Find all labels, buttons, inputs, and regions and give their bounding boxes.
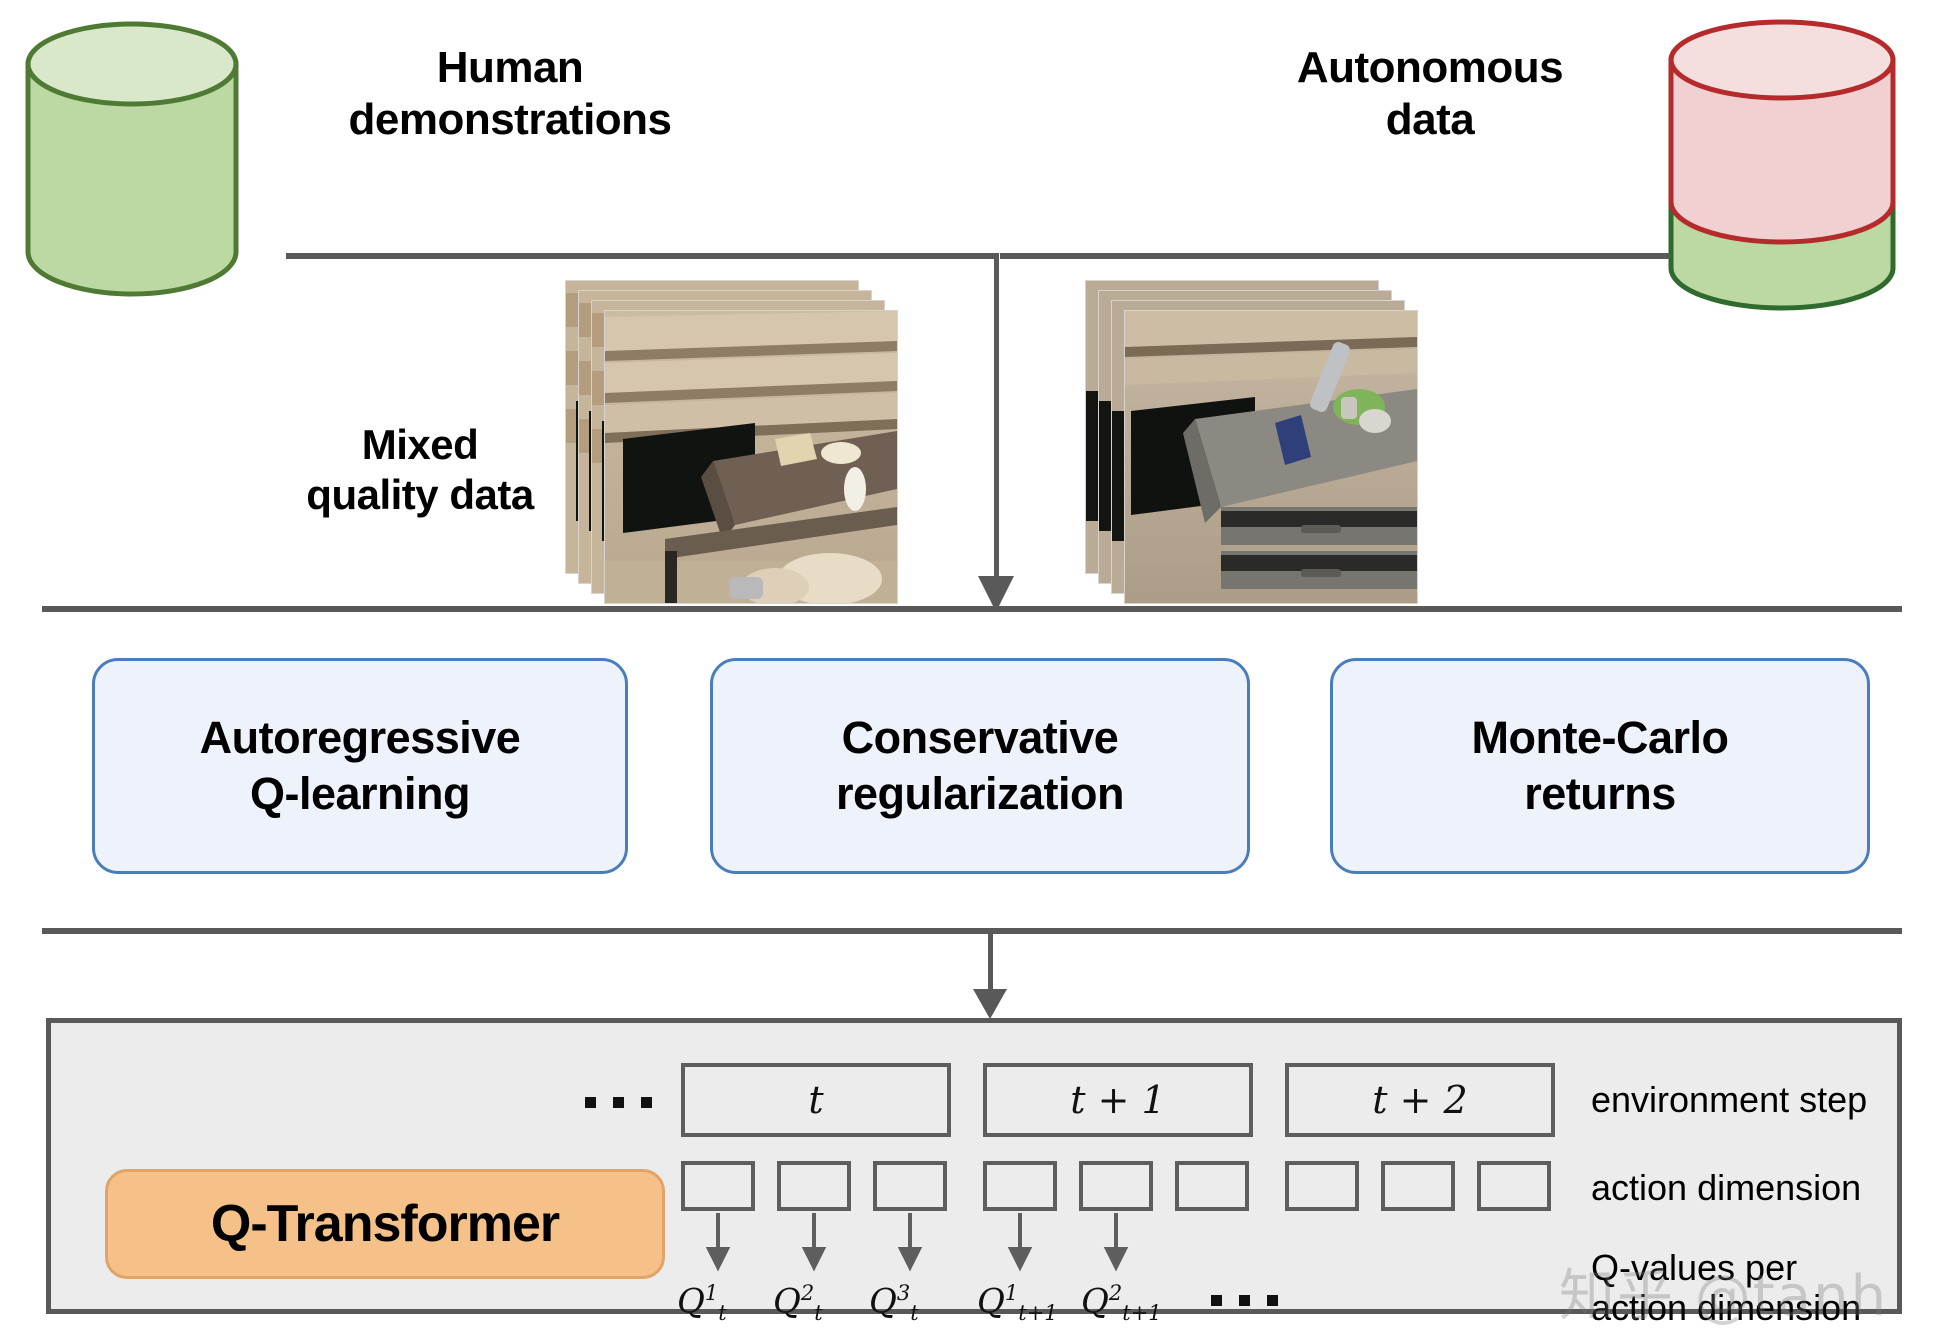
action-dim-box-t1-2[interactable] bbox=[1079, 1161, 1153, 1211]
top-to-methods-connector bbox=[994, 253, 999, 583]
trailing-ellipsis bbox=[1211, 1295, 1278, 1306]
action-dim-box-t-3[interactable] bbox=[873, 1161, 947, 1211]
env-step-box-t[interactable]: t bbox=[681, 1063, 951, 1137]
method-box-text: Conservative regularization bbox=[836, 710, 1124, 823]
row-label-q-values-line1: Q-values per bbox=[1591, 1247, 1797, 1289]
human-label-line2: demonstrations bbox=[270, 94, 750, 146]
q-transformer-panel: Q-Transformer t t + 1 t + 2 bbox=[46, 1018, 1902, 1314]
method-line1: Monte-Carlo bbox=[1472, 710, 1729, 766]
method-line2: Q-learning bbox=[200, 766, 521, 822]
q-value-label-2: Q2t bbox=[773, 1281, 823, 1325]
action-dim-box-t1-1[interactable] bbox=[983, 1161, 1057, 1211]
q-value-label-1: Q1t bbox=[677, 1281, 727, 1325]
autonomous-data-frames bbox=[1085, 280, 1415, 600]
q-sup: 2 bbox=[1109, 1281, 1122, 1305]
method-line1: Autoregressive bbox=[200, 710, 521, 766]
env-step-label: t + 2 bbox=[1372, 1078, 1467, 1122]
method-line1: Conservative bbox=[836, 710, 1124, 766]
row-label-environment-step: environment step bbox=[1591, 1079, 1867, 1121]
q-value-label-4: Q1t+1 bbox=[977, 1281, 1058, 1325]
dot bbox=[585, 1097, 596, 1108]
divider-rule-bottom bbox=[42, 928, 1902, 934]
q-transformer-label-box[interactable]: Q-Transformer bbox=[105, 1169, 665, 1279]
q-value-label-5: Q2t+1 bbox=[1081, 1281, 1162, 1325]
q-transformer-label: Q-Transformer bbox=[211, 1194, 559, 1254]
q-sup: 3 bbox=[897, 1281, 910, 1305]
q-sub: t bbox=[814, 1301, 822, 1325]
q-base: Q bbox=[869, 1281, 897, 1321]
method-box-autoregressive-q-learning[interactable]: Autoregressive Q-learning bbox=[92, 658, 628, 874]
human-label-line1: Human bbox=[270, 42, 750, 94]
row-label-action-dimension: action dimension bbox=[1591, 1167, 1861, 1209]
action-dim-box-t1-3[interactable] bbox=[1175, 1161, 1249, 1211]
q-sup: 2 bbox=[801, 1281, 814, 1305]
q-sup: 1 bbox=[705, 1281, 718, 1305]
env-step-box-t-plus-2[interactable]: t + 2 bbox=[1285, 1063, 1555, 1137]
row-label-q-values-line2: action dimension bbox=[1591, 1287, 1861, 1329]
q-sup: 1 bbox=[1005, 1281, 1018, 1305]
action-dim-box-t-1[interactable] bbox=[681, 1161, 755, 1211]
frame-sheet-1 bbox=[1124, 310, 1418, 604]
method-line2: returns bbox=[1472, 766, 1729, 822]
action-dim-box-t2-2[interactable] bbox=[1381, 1161, 1455, 1211]
q-value-label-3: Q3t bbox=[869, 1281, 919, 1325]
q-base: Q bbox=[1081, 1281, 1109, 1321]
frame-sheet-1 bbox=[604, 310, 898, 604]
human-demo-frames bbox=[565, 280, 895, 600]
q-sub: t+1 bbox=[1018, 1301, 1057, 1325]
env-step-box-t-plus-1[interactable]: t + 1 bbox=[983, 1063, 1253, 1137]
method-box-conservative-regularization[interactable]: Conservative regularization bbox=[710, 658, 1250, 874]
q-base: Q bbox=[773, 1281, 801, 1321]
method-box-text: Autoregressive Q-learning bbox=[200, 710, 521, 823]
env-step-label: t + 1 bbox=[1070, 1078, 1165, 1122]
q-sub: t+1 bbox=[1122, 1301, 1161, 1325]
figure-canvas: Human demonstrations Autonomous data Mix… bbox=[0, 0, 1944, 1340]
autonomous-label-line2: data bbox=[1200, 94, 1660, 146]
env-step-label: t bbox=[808, 1078, 823, 1122]
dot bbox=[613, 1097, 624, 1108]
q-base: Q bbox=[977, 1281, 1005, 1321]
q-arrow-group bbox=[681, 1213, 1241, 1275]
q-base: Q bbox=[677, 1281, 705, 1321]
q-sub: t bbox=[718, 1301, 726, 1325]
dot bbox=[641, 1097, 652, 1108]
action-dim-box-t-2[interactable] bbox=[777, 1161, 851, 1211]
method-box-text: Monte-Carlo returns bbox=[1472, 710, 1729, 823]
dot bbox=[1239, 1295, 1250, 1306]
top-connector-rule-right bbox=[1000, 253, 1670, 259]
leading-ellipsis bbox=[585, 1097, 652, 1108]
action-dim-box-t2-1[interactable] bbox=[1285, 1161, 1359, 1211]
human-demonstrations-label: Human demonstrations bbox=[270, 42, 750, 146]
method-line2: regularization bbox=[836, 766, 1124, 822]
autonomous-data-cylinder bbox=[1666, 18, 1898, 318]
autonomous-label-line1: Autonomous bbox=[1200, 42, 1660, 94]
top-connector-rule-left bbox=[286, 253, 996, 259]
q-sub: t bbox=[910, 1301, 918, 1325]
human-demonstrations-cylinder bbox=[24, 18, 240, 298]
autonomous-data-label: Autonomous data bbox=[1200, 42, 1660, 146]
action-dim-box-t2-3[interactable] bbox=[1477, 1161, 1551, 1211]
divider-rule-top bbox=[42, 606, 1902, 612]
methods-to-model-arrowhead bbox=[966, 985, 1014, 1021]
dot bbox=[1211, 1295, 1222, 1306]
dot bbox=[1267, 1295, 1278, 1306]
method-box-monte-carlo-returns[interactable]: Monte-Carlo returns bbox=[1330, 658, 1870, 874]
